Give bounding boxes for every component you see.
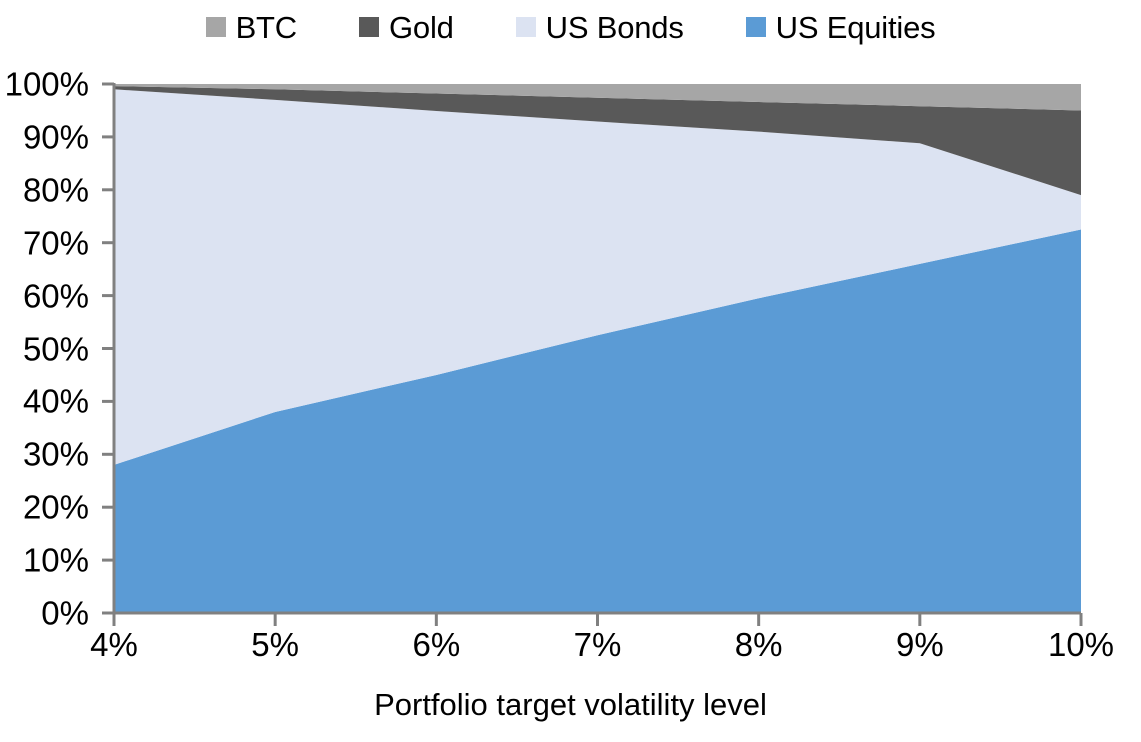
x-tick-label-text: 5% bbox=[251, 628, 299, 661]
y-tick-label-text: 30% bbox=[23, 438, 89, 471]
x-tick-label-text: 4% bbox=[90, 628, 138, 661]
x-axis-title: Portfolio target volatility level bbox=[0, 688, 1141, 722]
y-tick-label-text: 70% bbox=[23, 226, 89, 259]
x-tick-label-text: 6% bbox=[412, 628, 460, 661]
y-tick-label-text: 10% bbox=[23, 544, 89, 577]
y-tick-label-text: 0% bbox=[41, 597, 89, 630]
x-tick-label-text: 7% bbox=[574, 628, 622, 661]
y-tick-label-text: 90% bbox=[23, 120, 89, 153]
y-tick-label-text: 100% bbox=[5, 68, 89, 101]
plot-svg bbox=[0, 0, 1141, 742]
y-tick-label-text: 40% bbox=[23, 385, 89, 418]
plot-area bbox=[0, 0, 1141, 742]
y-tick-label-text: 20% bbox=[23, 491, 89, 524]
y-tick-label-text: 80% bbox=[23, 173, 89, 206]
y-tick-label-text: 50% bbox=[23, 332, 89, 365]
stacked-area-chart: BTC Gold US Bonds US Equities 100%90%80%… bbox=[0, 0, 1141, 742]
x-tick-label-text: 9% bbox=[896, 628, 944, 661]
x-tick-label-text: 10% bbox=[1048, 628, 1114, 661]
x-tick-label-text: 8% bbox=[735, 628, 783, 661]
y-tick-label-text: 60% bbox=[23, 279, 89, 312]
